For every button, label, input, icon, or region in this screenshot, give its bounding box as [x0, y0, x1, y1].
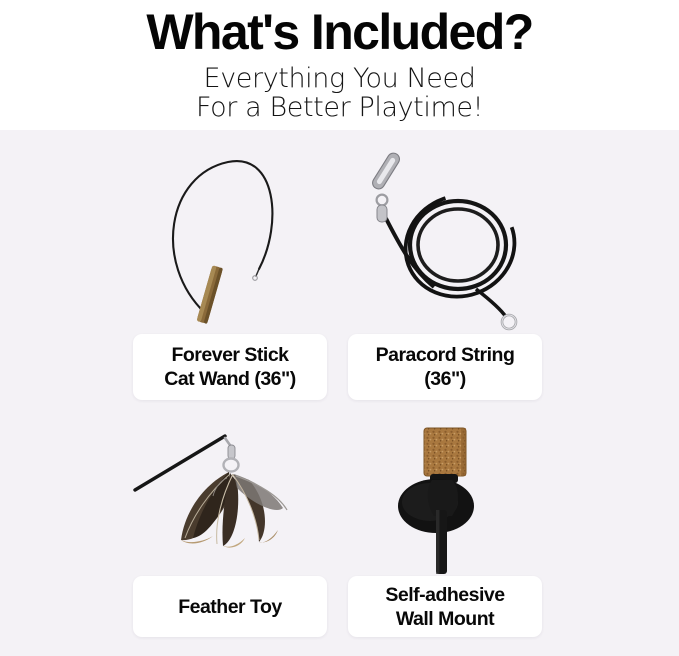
item-label-text: Feather Toy [178, 595, 282, 619]
wall-mount-photo [348, 418, 542, 578]
items-panel [0, 130, 679, 656]
item-label-text: Forever Stick Cat Wand (36") [164, 343, 296, 391]
item-label-card-forever-stick-cat-wand[interactable]: Forever Stick Cat Wand (36") [133, 334, 327, 400]
page-subtitle: Everything You Need For a Better Playtim… [0, 59, 679, 122]
whats-included-infographic: What's Included? Everything You Need For… [0, 0, 679, 656]
item-label-card-paracord-string[interactable]: Paracord String (36") [348, 334, 542, 400]
page-subtitle-line-2: For a Better Playtime! [0, 93, 679, 122]
cat-wand-photo [133, 145, 327, 335]
feather-toy-photo [133, 418, 327, 578]
item-label-card-feather-toy[interactable]: Feather Toy [133, 576, 327, 637]
page-subtitle-line-1: Everything You Need [0, 64, 679, 93]
item-label-text: Self-adhesive Wall Mount [385, 583, 504, 631]
paracord-string-photo [348, 145, 542, 335]
header-banner: What's Included? Everything You Need For… [0, 0, 679, 130]
item-label-card-self-adhesive-wall-mount[interactable]: Self-adhesive Wall Mount [348, 576, 542, 637]
page-title: What's Included? [0, 2, 679, 59]
item-label-text: Paracord String (36") [376, 343, 515, 391]
